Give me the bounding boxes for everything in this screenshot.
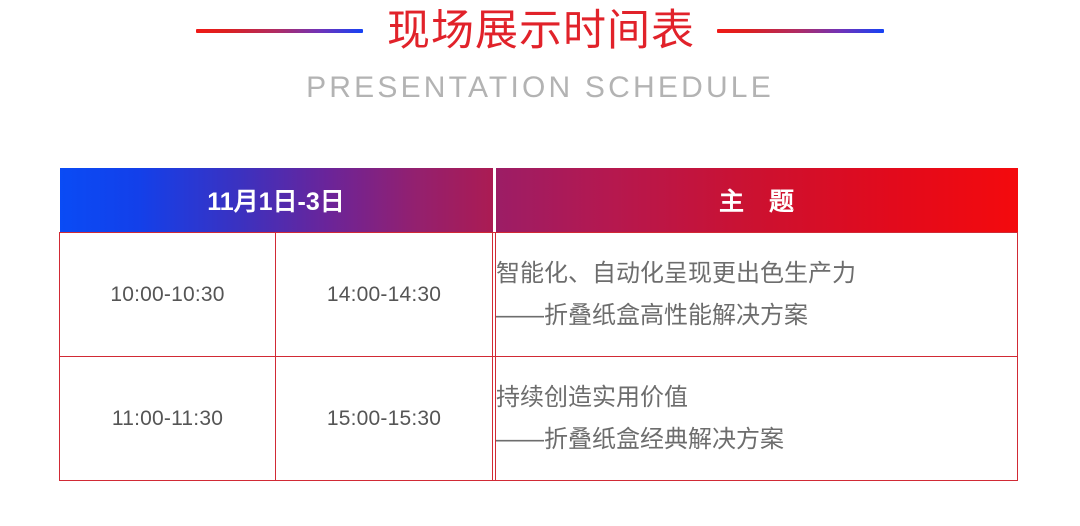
topic-line-secondary: ——折叠纸盒高性能解决方案 xyxy=(496,295,1017,337)
morning-time-cell: 10:00-10:30 xyxy=(60,233,276,357)
afternoon-time-cell: 15:00-15:30 xyxy=(276,357,493,481)
topic-line-primary: 智能化、自动化呈现更出色生产力 xyxy=(496,253,1017,295)
date-range-header: 11月1日-3日 xyxy=(60,168,493,233)
afternoon-time-cell: 14:00-14:30 xyxy=(276,233,493,357)
page-title: 现场展示时间表 xyxy=(387,10,695,53)
presentation-schedule-table: 11月1日-3日 主 题 10:00-10:30 14:00-14:30 智能化… xyxy=(59,168,1018,481)
table-row: 10:00-10:30 14:00-14:30 智能化、自动化呈现更出色生产力 … xyxy=(60,233,1018,357)
table-header: 11月1日-3日 主 题 xyxy=(60,168,1018,233)
table-body: 10:00-10:30 14:00-14:30 智能化、自动化呈现更出色生产力 … xyxy=(60,233,1018,481)
table-header-row: 11月1日-3日 主 题 xyxy=(60,168,1018,233)
table-row: 11:00-11:30 15:00-15:30 持续创造实用价值 ——折叠纸盒经… xyxy=(60,357,1018,481)
decorative-rule-right xyxy=(717,29,884,33)
topic-cell: 持续创造实用价值 ——折叠纸盒经典解决方案 xyxy=(496,357,1018,481)
title-row: 现场展示时间表 xyxy=(0,0,1080,62)
topic-line-primary: 持续创造实用价值 xyxy=(496,377,1017,419)
topic-header: 主 题 xyxy=(496,168,1018,233)
page-subtitle: PRESENTATION SCHEDULE xyxy=(0,70,1080,106)
morning-time-cell: 11:00-11:30 xyxy=(60,357,276,481)
topic-line-secondary: ——折叠纸盒经典解决方案 xyxy=(496,419,1017,461)
decorative-rule-left xyxy=(196,29,363,33)
topic-cell: 智能化、自动化呈现更出色生产力 ——折叠纸盒高性能解决方案 xyxy=(496,233,1018,357)
page-header: 现场展示时间表 PRESENTATION SCHEDULE xyxy=(0,0,1080,62)
